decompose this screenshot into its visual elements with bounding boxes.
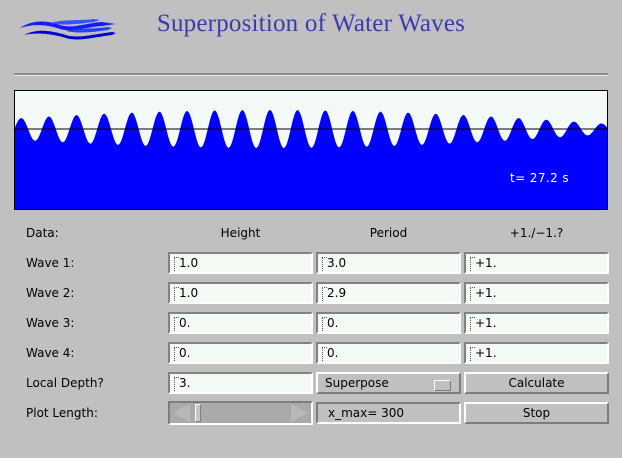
wave-2-period-value: 2.9 xyxy=(327,286,346,300)
wave-2-sign-input[interactable]: +1. xyxy=(464,282,609,304)
plot-length-label: Plot Length: xyxy=(26,406,98,420)
height-column-header: Height xyxy=(168,226,313,240)
text-caret-icon xyxy=(470,257,475,273)
wave-1-period-input[interactable]: 3.0 xyxy=(316,252,461,274)
text-caret-icon xyxy=(322,347,327,363)
wave-plot-canvas xyxy=(15,91,607,209)
calculate-button[interactable]: Calculate xyxy=(464,372,609,394)
text-caret-icon xyxy=(174,347,179,363)
table-row: Wave 4: 0. 0. +1. xyxy=(0,342,622,368)
table-row: Wave 2: 1.0 2.9 +1. xyxy=(0,282,622,308)
text-caret-icon xyxy=(174,257,179,273)
plot-length-scrollbar[interactable] xyxy=(168,401,313,425)
wave-4-sign-value: +1. xyxy=(475,346,497,360)
scroll-right-arrow-icon[interactable] xyxy=(291,404,308,422)
local-depth-label: Local Depth? xyxy=(26,376,104,390)
local-depth-value: 3. xyxy=(179,376,190,390)
wave-3-sign-input[interactable]: +1. xyxy=(464,312,609,334)
wave-4-period-value: 0. xyxy=(327,346,338,360)
dropdown-indicator-icon xyxy=(434,380,451,391)
superpose-mode-dropdown[interactable]: Superpose xyxy=(316,372,461,394)
wave-1-label: Wave 1: xyxy=(26,256,74,270)
wave-3-height-input[interactable]: 0. xyxy=(168,312,313,334)
wave-4-height-input[interactable]: 0. xyxy=(168,342,313,364)
table-row: Wave 1: 1.0 3.0 +1. xyxy=(0,252,622,278)
wave-1-height-value: 1.0 xyxy=(179,256,198,270)
data-column-label: Data: xyxy=(26,226,59,240)
header: Superposition of Water Waves xyxy=(0,0,622,62)
wave-plot: t= 27.2 s xyxy=(14,90,608,210)
application-window: Superposition of Water Waves t= 27.2 s D… xyxy=(0,0,622,458)
text-caret-icon xyxy=(322,257,327,273)
superpose-mode-value: Superpose xyxy=(325,376,389,390)
text-caret-icon xyxy=(174,317,179,333)
text-caret-icon xyxy=(174,287,179,303)
wave-3-period-value: 0. xyxy=(327,316,338,330)
wave-2-label: Wave 2: xyxy=(26,286,74,300)
wave-1-period-value: 3.0 xyxy=(327,256,346,270)
x-max-readout: x_max= 300 xyxy=(316,402,461,424)
page-title: Superposition of Water Waves xyxy=(0,10,622,38)
wave-3-height-value: 0. xyxy=(179,316,190,330)
text-caret-icon xyxy=(322,287,327,303)
local-depth-row: Local Depth? 3. Superpose Calculate xyxy=(0,372,622,398)
wave-1-sign-input[interactable]: +1. xyxy=(464,252,609,274)
local-depth-input[interactable]: 3. xyxy=(168,372,313,394)
wave-2-height-value: 1.0 xyxy=(179,286,198,300)
wave-3-period-input[interactable]: 0. xyxy=(316,312,461,334)
wave-4-label: Wave 4: xyxy=(26,346,74,360)
wave-3-label: Wave 3: xyxy=(26,316,74,330)
text-caret-icon xyxy=(322,317,327,333)
wave-4-sign-input[interactable]: +1. xyxy=(464,342,609,364)
wave-2-sign-value: +1. xyxy=(475,286,497,300)
form-header-row: Data: Height Period +1./−1.? xyxy=(0,222,622,248)
wave-4-height-value: 0. xyxy=(179,346,190,360)
period-column-header: Period xyxy=(316,226,461,240)
text-caret-icon xyxy=(470,317,475,333)
text-caret-icon xyxy=(470,347,475,363)
scroll-left-arrow-icon[interactable] xyxy=(173,404,190,422)
table-row: Wave 3: 0. 0. +1. xyxy=(0,312,622,338)
sign-column-header: +1./−1.? xyxy=(464,226,609,240)
wave-3-sign-value: +1. xyxy=(475,316,497,330)
wave-1-height-input[interactable]: 1.0 xyxy=(168,252,313,274)
plot-length-row: Plot Length: x_max= 300 Stop xyxy=(0,402,622,428)
text-caret-icon xyxy=(470,287,475,303)
header-divider xyxy=(14,73,608,76)
wave-2-period-input[interactable]: 2.9 xyxy=(316,282,461,304)
stop-button[interactable]: Stop xyxy=(464,402,609,424)
wave-1-sign-value: +1. xyxy=(475,256,497,270)
text-caret-icon xyxy=(174,377,179,393)
wave-2-height-input[interactable]: 1.0 xyxy=(168,282,313,304)
scrollbar-thumb[interactable] xyxy=(195,404,201,422)
wave-4-period-input[interactable]: 0. xyxy=(316,342,461,364)
